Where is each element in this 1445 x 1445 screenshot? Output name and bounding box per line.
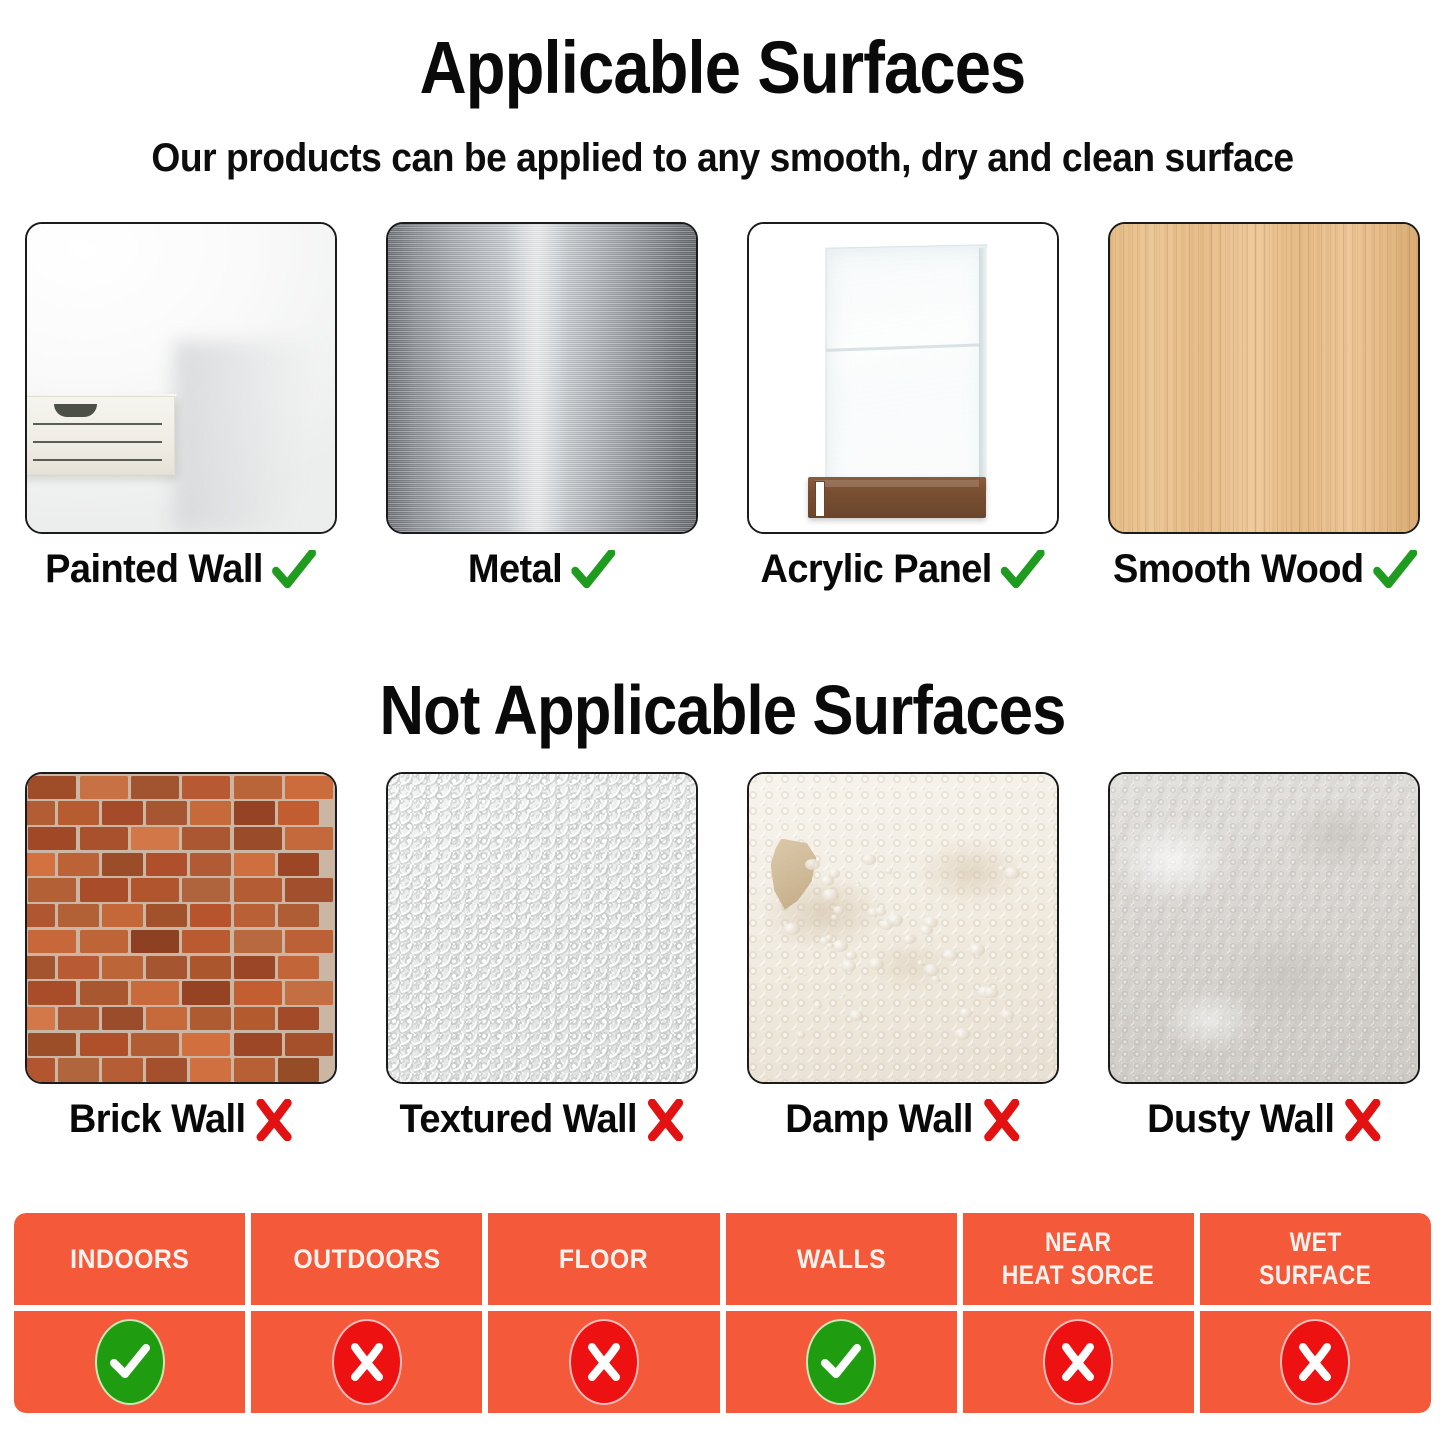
cross-circle-icon: [1282, 1321, 1348, 1403]
brushed-metal-photo: [386, 222, 698, 534]
surface-caption: Damp Wall: [786, 1097, 1021, 1142]
spec-status-wet-surface: [1200, 1311, 1431, 1413]
spec-header-label: NEAR HEAT SORCE: [995, 1226, 1161, 1292]
check-icon: [1373, 550, 1417, 590]
surface-card-brick-wall: Brick Wall: [0, 772, 361, 1142]
surface-card-metal: Metal: [361, 222, 722, 592]
spec-header-wet-surface: WET SURFACE: [1200, 1213, 1431, 1305]
check-icon: [272, 550, 316, 590]
surface-card-smooth-wood: Smooth Wood: [1084, 222, 1445, 592]
surface-caption: Brick Wall: [69, 1097, 293, 1142]
surface-caption: Smooth Wood: [1113, 547, 1417, 592]
spec-status-walls: [726, 1311, 957, 1413]
dusty-wall-photo: [1108, 772, 1420, 1084]
page-subtitle: Our products can be applied to any smoot…: [51, 134, 1395, 182]
acrylic-panel-photo: [747, 222, 1059, 534]
check-icon: [572, 550, 616, 590]
cross-circle-icon: [1045, 1321, 1111, 1403]
spec-header-label-line1: NEAR: [1045, 1226, 1111, 1259]
spec-table-header-row: INDOORS OUTDOORS FLOOR WALLS NEAR HEAT S…: [14, 1213, 1431, 1305]
check-circle-icon: [97, 1321, 163, 1403]
surface-card-textured-wall: Textured Wall: [361, 772, 722, 1142]
surface-card-painted-wall: Painted Wall: [0, 222, 361, 592]
surface-label: Painted Wall: [45, 547, 263, 592]
cross-icon: [255, 1099, 293, 1141]
spec-status-near-heat-source: [963, 1311, 1194, 1413]
surface-label: Textured Wall: [399, 1097, 637, 1142]
spec-status-outdoors: [251, 1311, 482, 1413]
spec-header-label: FLOOR: [559, 1243, 648, 1276]
spec-status-floor: [488, 1311, 719, 1413]
textured-wall-photo: [386, 772, 698, 1084]
cross-circle-icon: [571, 1321, 637, 1403]
spec-header-floor: FLOOR: [488, 1213, 719, 1305]
spec-header-outdoors: OUTDOORS: [251, 1213, 482, 1305]
spec-header-label-line2: SURFACE: [1259, 1259, 1371, 1292]
smooth-wood-photo: [1108, 222, 1420, 534]
spec-header-label: WALLS: [796, 1243, 885, 1276]
spec-status-indoors: [14, 1311, 245, 1413]
check-icon: [1002, 550, 1046, 590]
cross-icon: [646, 1099, 684, 1141]
surface-caption: Acrylic Panel: [761, 547, 1045, 592]
spec-table-status-row: [14, 1311, 1431, 1413]
surface-label: Acrylic Panel: [761, 547, 992, 592]
brick-wall-photo: [25, 772, 337, 1084]
not-applicable-title: Not Applicable Surfaces: [87, 670, 1359, 750]
painted-wall-photo: [25, 222, 337, 534]
spec-header-label: OUTDOORS: [293, 1243, 440, 1276]
surface-label: Brick Wall: [69, 1097, 246, 1142]
surface-label: Smooth Wood: [1113, 547, 1364, 592]
infographic-page: Applicable Surfaces Our products can be …: [0, 0, 1445, 1445]
damp-wall-photo: [747, 772, 1059, 1084]
applicable-surfaces-grid: Painted Wall Metal: [0, 222, 1445, 592]
page-title: Applicable Surfaces: [87, 26, 1359, 110]
surface-label: Damp Wall: [786, 1097, 974, 1142]
usage-spec-table: INDOORS OUTDOORS FLOOR WALLS NEAR HEAT S…: [14, 1213, 1431, 1413]
cross-icon: [983, 1099, 1021, 1141]
surface-card-damp-wall: Damp Wall: [723, 772, 1084, 1142]
check-circle-icon: [808, 1321, 874, 1403]
spec-header-label-line1: WET: [1289, 1226, 1341, 1259]
spec-header-label: INDOORS: [70, 1243, 189, 1276]
not-applicable-surfaces-grid: Brick Wall Textured Wall: [0, 772, 1445, 1142]
cross-icon: [1344, 1099, 1382, 1141]
surface-caption: Textured Wall: [399, 1097, 684, 1142]
surface-caption: Painted Wall: [45, 547, 316, 592]
surface-card-dusty-wall: Dusty Wall: [1084, 772, 1445, 1142]
spec-header-indoors: INDOORS: [14, 1213, 245, 1305]
surface-card-acrylic-panel: Acrylic Panel: [723, 222, 1084, 592]
spec-header-walls: WALLS: [726, 1213, 957, 1305]
spec-header-label-line2: HEAT SORCE: [1002, 1259, 1154, 1292]
surface-caption: Metal: [468, 547, 615, 592]
spec-header-label: WET SURFACE: [1254, 1226, 1376, 1292]
surface-caption: Dusty Wall: [1147, 1097, 1382, 1142]
surface-label: Metal: [468, 547, 562, 592]
surface-label: Dusty Wall: [1147, 1097, 1334, 1142]
cross-circle-icon: [334, 1321, 400, 1403]
spec-header-near-heat-source: NEAR HEAT SORCE: [963, 1213, 1194, 1305]
